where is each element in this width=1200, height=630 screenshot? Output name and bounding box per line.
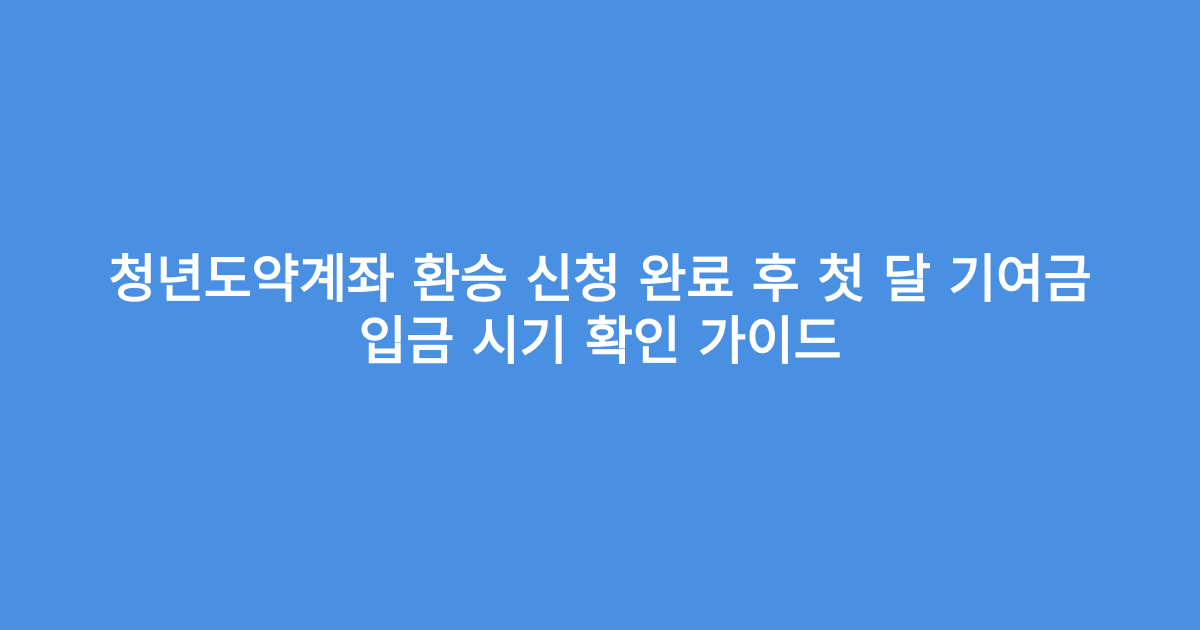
title-block: 청년도약계좌 환승 신청 완료 후 첫 달 기여금 입금 시기 확인 가이드	[60, 249, 1140, 373]
page-title: 청년도약계좌 환승 신청 완료 후 첫 달 기여금 입금 시기 확인 가이드	[70, 249, 1130, 373]
social-share-card: 청년도약계좌 환승 신청 완료 후 첫 달 기여금 입금 시기 확인 가이드	[0, 0, 1200, 630]
